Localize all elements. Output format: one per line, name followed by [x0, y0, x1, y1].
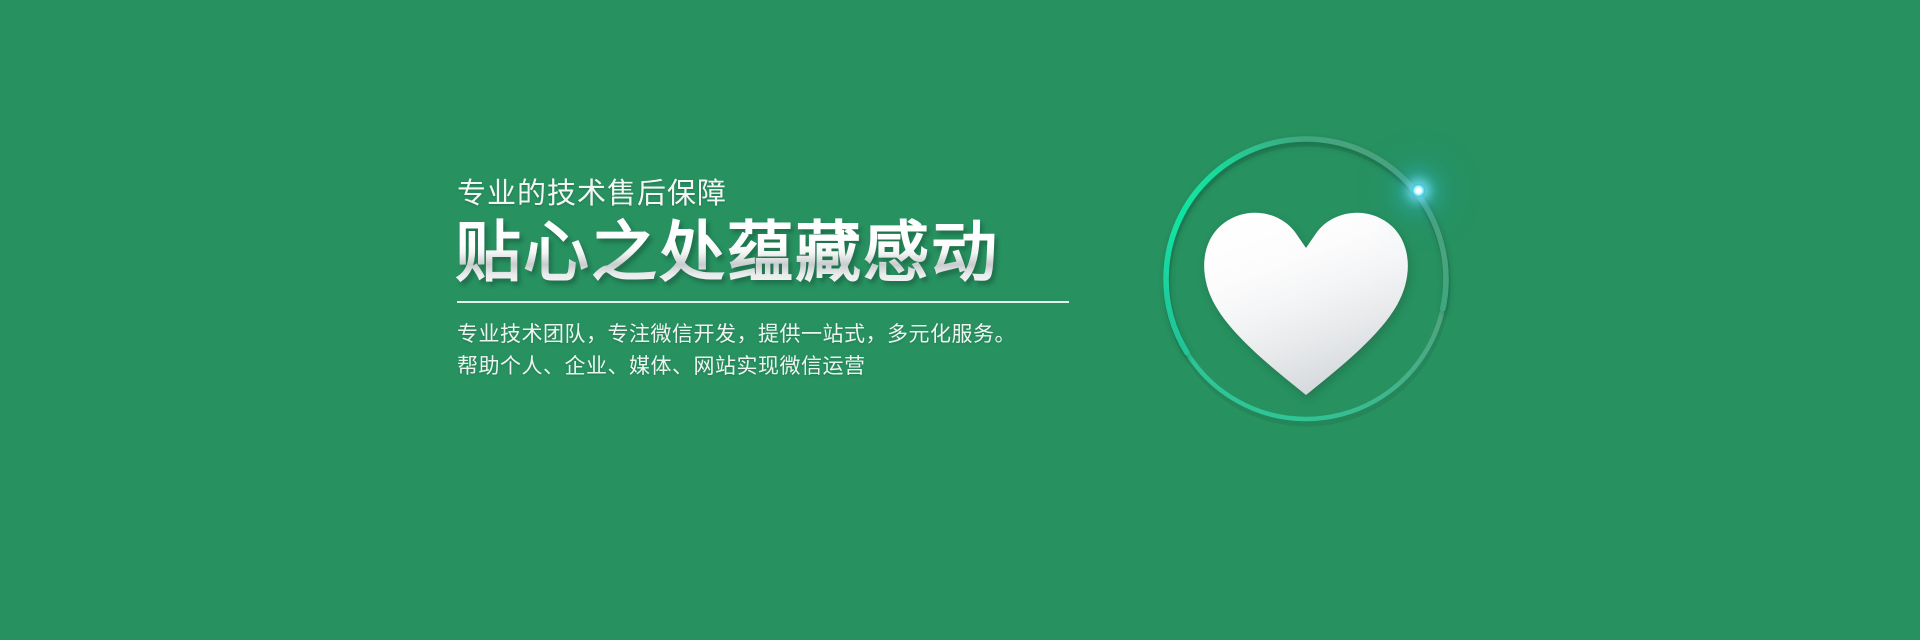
- promo-banner: 专业的技术售后保障 贴心之处蕴藏感动 专业技术团队，专注微信开发，提供一站式，多…: [0, 0, 1920, 640]
- heart-emblem: [1163, 136, 1449, 422]
- heart-shape: [1204, 213, 1408, 395]
- banner-headline: 贴心之处蕴藏感动: [455, 217, 1155, 288]
- banner-subtext-line-2: 帮助个人、企业、媒体、网站实现微信运营: [457, 351, 1155, 384]
- banner-subtext-line-1: 专业技术团队，专注微信开发，提供一站式，多元化服务。: [457, 319, 1155, 352]
- banner-subtext: 专业技术团队，专注微信开发，提供一站式，多元化服务。 帮助个人、企业、媒体、网站…: [457, 319, 1155, 384]
- banner-text-block: 专业的技术售后保障 贴心之处蕴藏感动 专业技术团队，专注微信开发，提供一站式，多…: [455, 178, 1155, 384]
- headline-divider: [457, 301, 1069, 303]
- heart-icon: [1163, 136, 1449, 422]
- glow-spark-icon: [1412, 184, 1425, 197]
- banner-eyebrow: 专业的技术售后保障: [457, 178, 1155, 211]
